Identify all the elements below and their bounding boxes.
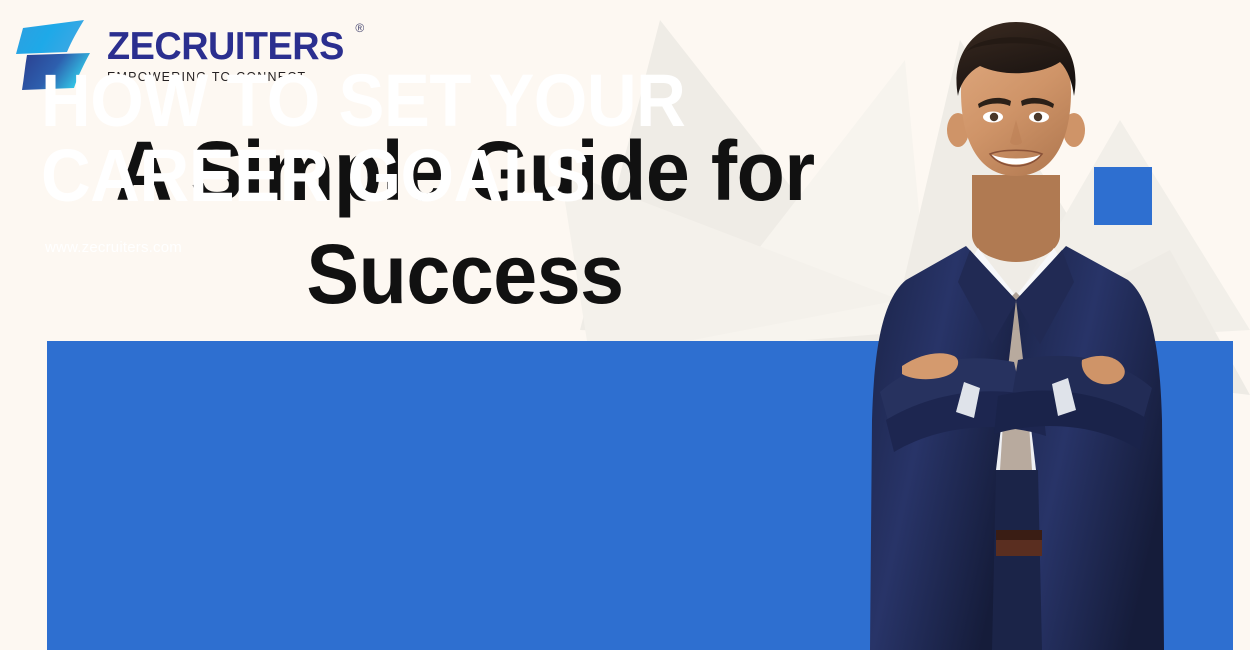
registered-trademark-icon: ®	[355, 21, 364, 35]
banner-headline-line-1: HOW TO SET YOUR	[41, 63, 685, 138]
businessman-photo	[846, 0, 1186, 650]
banner-headline-line-2: CAREER GOALS	[41, 138, 685, 213]
banner-headline: HOW TO SET YOUR CAREER GOALS	[41, 63, 685, 214]
poster-canvas: ZECRUITERS ® EMPOWERING TO CONNECT A Sim…	[0, 0, 1250, 650]
website-url[interactable]: www.zecruiters.com	[45, 239, 182, 256]
page-title-line-2: Success	[94, 223, 837, 326]
